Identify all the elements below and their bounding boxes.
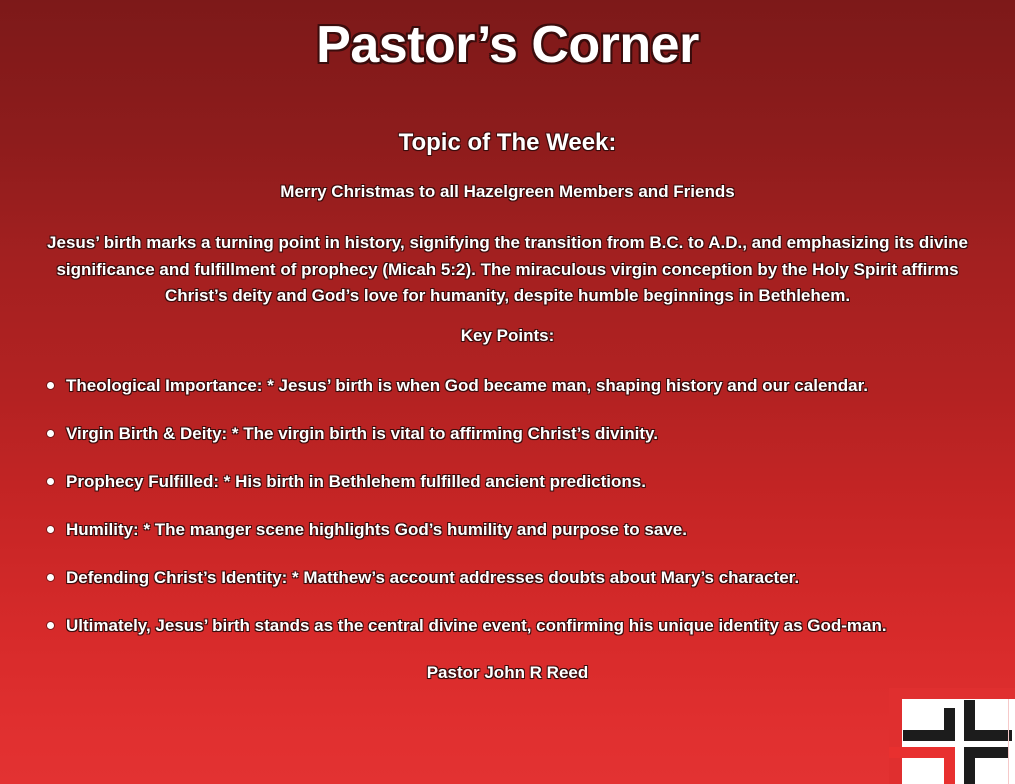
- logo-frame-top-bar: [889, 688, 1015, 699]
- bullet-dot-icon: [47, 526, 54, 533]
- logo-frame-left-bar: [889, 688, 902, 784]
- bullet-dot-icon: [47, 382, 54, 389]
- list-item-label: Ultimately, Jesus’ birth stands as the c…: [66, 616, 887, 635]
- bullet-dot-icon: [47, 622, 54, 629]
- bullet-dot-icon: [47, 478, 54, 485]
- list-item-label: Humility: * The manger scene highlights …: [66, 520, 687, 539]
- logo-right-edge-line: [1008, 699, 1009, 784]
- pastors-corner-page: Pastor’s Corner Topic of The Week: Merry…: [0, 0, 1015, 784]
- list-item: Humility: * The manger scene highlights …: [40, 518, 980, 566]
- list-item: Theological Importance: * Jesus’ birth i…: [40, 374, 980, 422]
- bullet-dot-icon: [47, 430, 54, 437]
- list-item-label: Virgin Birth & Deity: * The virgin birth…: [66, 424, 658, 443]
- list-item: Defending Christ’s Identity: * Matthew’s…: [40, 566, 980, 614]
- page-title: Pastor’s Corner: [0, 17, 1015, 74]
- cross-icon: [903, 700, 1007, 784]
- list-item: Virgin Birth & Deity: * The virgin birth…: [40, 422, 980, 470]
- key-points-list: Theological Importance: * Jesus’ birth i…: [40, 374, 980, 662]
- greeting-line: Merry Christmas to all Hazelgreen Member…: [0, 182, 1015, 202]
- list-item: Ultimately, Jesus’ birth stands as the c…: [40, 614, 980, 662]
- church-cross-logo: [889, 688, 1015, 784]
- list-item-label: Prophecy Fulfilled: * His birth in Bethl…: [66, 472, 646, 491]
- bullet-dot-icon: [47, 574, 54, 581]
- signature-line: Pastor John R Reed: [0, 663, 1015, 683]
- key-points-heading: Key Points:: [0, 326, 1015, 346]
- list-item-label: Defending Christ’s Identity: * Matthew’s…: [66, 568, 799, 587]
- list-item-label: Theological Importance: * Jesus’ birth i…: [66, 376, 868, 395]
- list-item: Prophecy Fulfilled: * His birth in Bethl…: [40, 470, 980, 518]
- body-paragraph: Jesus’ birth marks a turning point in hi…: [0, 230, 1015, 310]
- topic-of-the-week-heading: Topic of The Week:: [0, 129, 1015, 157]
